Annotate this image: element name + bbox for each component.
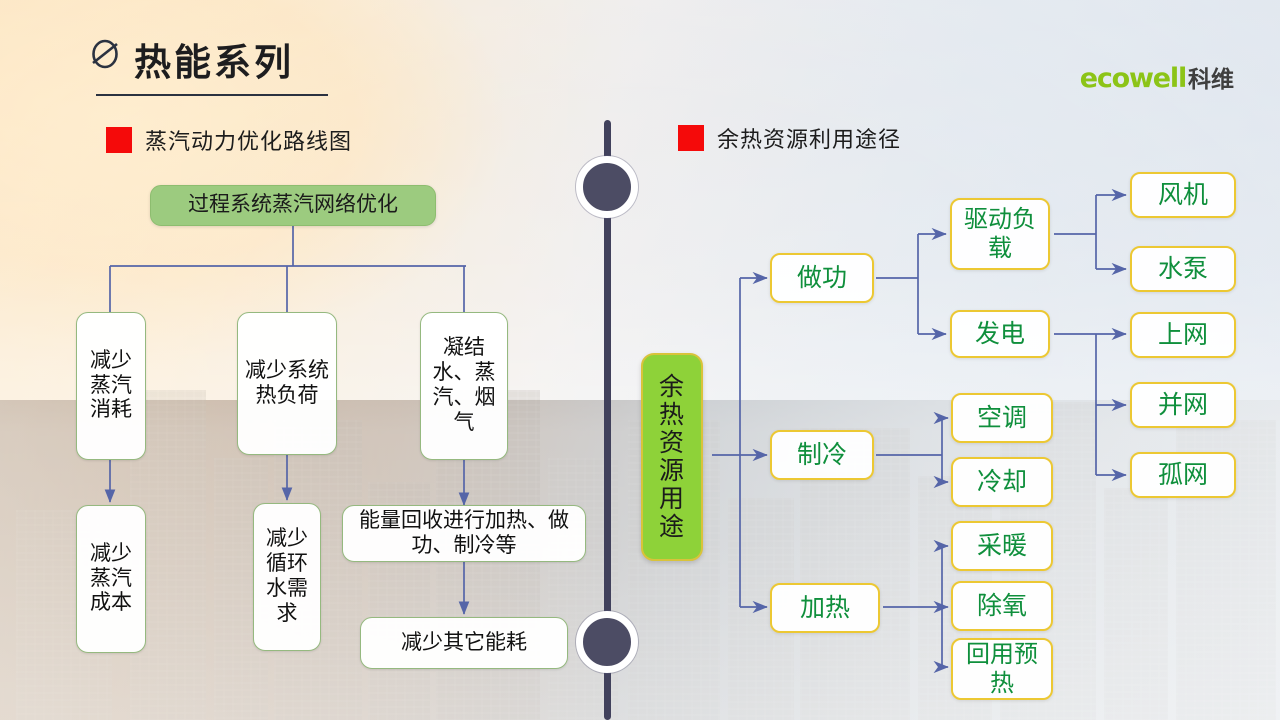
left-node-energy-recovery[interactable]: 能量回收进行加热、做功、制冷等 (342, 505, 586, 562)
right-node-island-grid[interactable]: 孤网 (1130, 452, 1236, 498)
right-node-pump[interactable]: 水泵 (1130, 246, 1236, 292)
right-node-power-generation[interactable]: 发电 (950, 310, 1050, 358)
right-node-cooling[interactable]: 制冷 (770, 430, 874, 480)
right-node-work[interactable]: 做功 (770, 253, 874, 303)
right-node-heating[interactable]: 加热 (770, 583, 880, 633)
brand-logo: ecowell 科维 (1080, 60, 1234, 94)
left-root-node[interactable]: 过程系统蒸汽网络优化 (150, 185, 436, 226)
slide-canvas: 热能系列 ecowell 科维 蒸汽动力优化路线图 余热资源利用途径 (0, 0, 1280, 720)
page-title: 热能系列 (134, 32, 294, 86)
left-node-reduce-system-heat-load[interactable]: 减少系统热负荷 (237, 312, 337, 455)
left-node-condensate-steam-fluegas[interactable]: 凝结水、蒸汽、烟气 (420, 312, 508, 460)
left-node-reduce-other-energy[interactable]: 减少其它能耗 (360, 617, 568, 669)
left-node-reduce-steam-cost[interactable]: 减少蒸汽成本 (76, 505, 146, 653)
right-node-grid-tie[interactable]: 并网 (1130, 382, 1236, 428)
left-node-reduce-steam-consumption[interactable]: 减少蒸汽消耗 (76, 312, 146, 460)
slashed-circle-icon (88, 36, 122, 70)
right-node-reuse-preheat[interactable]: 回用预热 (951, 638, 1053, 700)
center-badge-waste-heat-use: 余 热 资 源 用 途 (641, 353, 703, 561)
timeline-node-bottom (576, 611, 638, 673)
logo-wordmark: ecowell (1080, 63, 1186, 94)
right-node-cooling-water[interactable]: 冷却 (951, 457, 1053, 507)
right-node-deoxygenation[interactable]: 除氧 (951, 581, 1053, 631)
section-header-right: 余热资源利用途径 (678, 122, 901, 154)
section-label-right: 余热资源利用途径 (717, 122, 901, 154)
section-header-left: 蒸汽动力优化路线图 (106, 124, 352, 156)
section-label-left: 蒸汽动力优化路线图 (145, 124, 352, 156)
right-node-air-conditioning[interactable]: 空调 (951, 393, 1053, 443)
logo-chinese-name: 科维 (1188, 60, 1234, 94)
right-node-grid-export[interactable]: 上网 (1130, 312, 1236, 358)
background-photo (0, 0, 1280, 720)
red-square-bullet-icon (678, 125, 704, 151)
right-node-space-heating[interactable]: 采暖 (951, 521, 1053, 571)
timeline-node-top (576, 156, 638, 218)
right-node-drive-load[interactable]: 驱动负载 (950, 198, 1050, 270)
right-node-fan[interactable]: 风机 (1130, 172, 1236, 218)
title-underline (96, 94, 328, 96)
left-node-reduce-cooling-water-demand[interactable]: 减少循环水需求 (253, 503, 321, 651)
background-vignette (0, 0, 1280, 720)
red-square-bullet-icon (106, 127, 132, 153)
